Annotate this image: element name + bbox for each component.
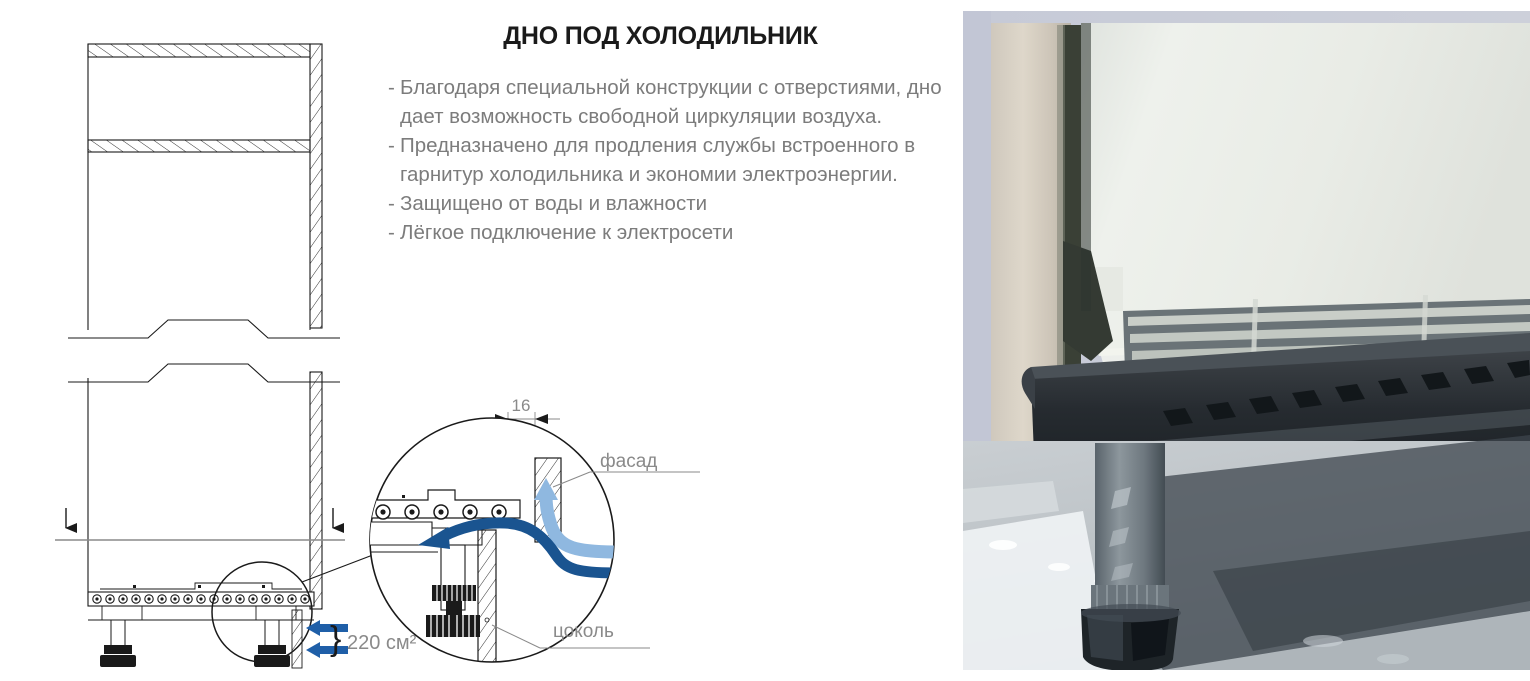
list-item: - Предназначено для продления службы вст… [388, 131, 968, 189]
bullet-dash: - [388, 131, 400, 160]
bullet-dash: - [388, 189, 400, 218]
bullet-dash: - [388, 73, 400, 102]
list-item: - Лёгкое подключение к электросети [388, 218, 968, 247]
airflow-intake-arrows [306, 620, 348, 658]
lower-cabinet-drawing: } 220 см² [55, 364, 417, 668]
vent-hole-row [93, 595, 309, 603]
info-text-block: ДНО ПОД ХОЛОДИЛЬНИК - Благодаря специаль… [388, 22, 968, 247]
bullet-dash: - [388, 218, 400, 247]
facade-label: фасад [600, 451, 657, 472]
list-item-label: Лёгкое подключение к электросети [400, 218, 968, 247]
area-label: 220 см² [347, 632, 417, 654]
feature-list: - Благодаря специальной конструкции с от… [388, 73, 968, 247]
airflow-arrow-lower [306, 642, 348, 658]
list-item-label: Предназначено для продления службы встро… [400, 131, 968, 189]
product-photo-svg [963, 11, 1530, 670]
ventilated-bottom-panel [88, 583, 314, 620]
adjustable-leg-left [100, 620, 136, 667]
dimension-16-label: 16 [512, 396, 531, 415]
area-brace: } [330, 620, 341, 658]
airflow-arrow-upper [306, 620, 348, 636]
list-item: - Защищено от воды и влажности [388, 189, 968, 218]
list-item-label: Защищено от воды и влажности [400, 189, 968, 218]
product-photo [963, 11, 1530, 670]
detail-callout-assembly: 16 [368, 396, 700, 662]
adjustable-leg-right [254, 620, 290, 667]
list-item: - Благодаря специальной конструкции с от… [388, 73, 968, 131]
list-item-label: Благодаря специальной конструкции с отве… [400, 73, 968, 131]
plinth-label: цоколь [553, 621, 614, 642]
page-title: ДНО ПОД ХОЛОДИЛЬНИК [388, 22, 933, 51]
plinth-board [478, 530, 496, 662]
upper-cabinet-drawing [68, 44, 340, 338]
